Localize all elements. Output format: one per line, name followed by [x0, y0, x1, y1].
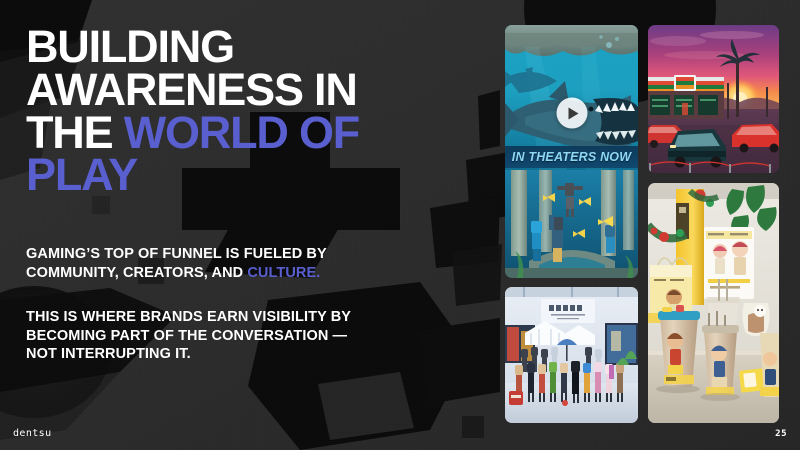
- play-button[interactable]: [556, 98, 587, 129]
- paragraph-1-line-2: COMMUNITY, CREATORS, AND CULTURE.: [26, 264, 466, 283]
- paragraph-1-line-1: GAMING’S TOP OF FUNNEL IS FUELED BY: [26, 245, 466, 264]
- body-paragraph-2: THIS IS WHERE BRANDS EARN VISIBILITY BY …: [26, 308, 466, 364]
- paragraph-1-line-2-white: COMMUNITY, CREATORS, AND: [26, 265, 247, 281]
- headline-line-3-accent: WORLD OF: [124, 107, 359, 158]
- in-theaters-label: IN THEATERS NOW: [512, 150, 631, 164]
- paragraph-2-line-1: THIS IS WHERE BRANDS EARN VISIBILITY BY: [26, 308, 466, 327]
- presentation-slide: BUILDING AWARENESS IN THE WORLD OF PLAY …: [0, 0, 800, 450]
- dentsu-logo: dentsu: [13, 428, 52, 439]
- gallery-tile-convenience-store-sunset-screenshot[interactable]: Virtual convenience store at sunset with…: [648, 25, 779, 173]
- cafe-display-artwork: [648, 183, 779, 423]
- body-paragraph-1: GAMING’S TOP OF FUNNEL IS FUELED BY COMM…: [26, 245, 466, 282]
- image-gallery: IN THEATERS NOW Underwater game scene wi…: [505, 25, 779, 423]
- slide-content: BUILDING AWARENESS IN THE WORLD OF PLAY …: [0, 0, 500, 450]
- paragraph-2-line-3: NOT INTERRUPTING IT.: [26, 345, 466, 364]
- headline-line-4-accent: PLAY: [26, 149, 137, 200]
- expo-scene-artwork: [505, 287, 638, 423]
- in-theaters-banner: IN THEATERS NOW: [505, 146, 638, 168]
- gallery-tile-virtual-fashion-expo-screenshot[interactable]: Crowd of avatars gathered at a virtual f…: [505, 287, 638, 423]
- gallery-tile-shark-movie-promo-screenshot[interactable]: IN THEATERS NOW Underwater game scene wi…: [505, 25, 638, 278]
- play-icon: [568, 107, 578, 119]
- paragraph-2-line-2: BECOMING PART OF THE CONVERSATION —: [26, 327, 466, 346]
- sunset-store-artwork: [648, 25, 779, 173]
- page-title: BUILDING AWARENESS IN THE WORLD OF PLAY: [26, 26, 446, 197]
- page-number: 25: [775, 429, 787, 439]
- paragraph-1-line-2-accent: CULTURE.: [247, 265, 320, 281]
- gallery-tile-game-collab-cafe-photo[interactable]: Branded drink cups and merchandise from …: [648, 183, 779, 423]
